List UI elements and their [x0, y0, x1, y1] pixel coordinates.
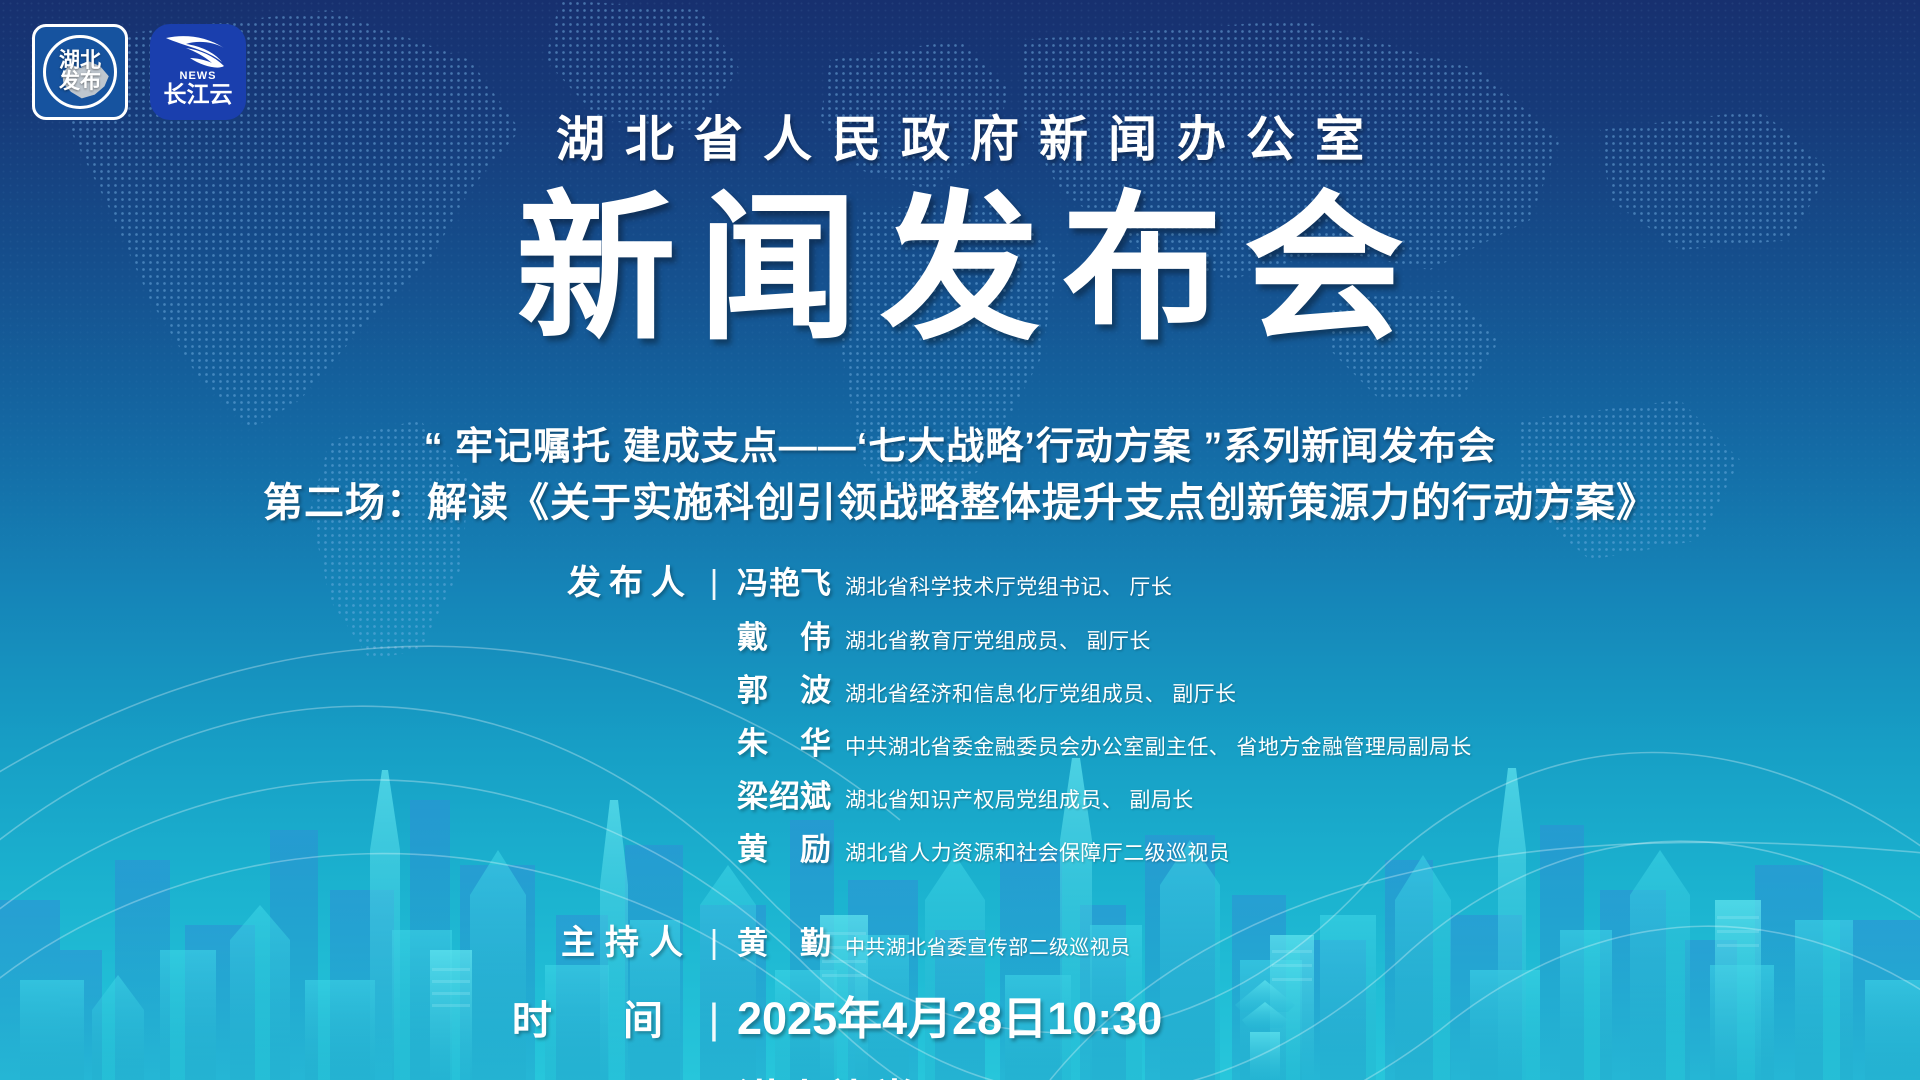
speaker-surname: 冯 [737, 558, 768, 603]
speaker-name: 朱华 [723, 718, 833, 763]
place-row: 地 点 | 洪山礼堂二号厅 [0, 1065, 1920, 1080]
page-title: 新闻发布会 [0, 185, 1920, 353]
speaker-name: 冯艳飞 [723, 558, 833, 603]
speaker-row: 朱华 中共湖北省委金融委员会办公室副主任、 省地方金融管理局副局长 [0, 718, 1920, 763]
speaker-row: 梁绍斌 湖北省知识产权局党组成员、 副局长 [0, 771, 1920, 816]
speaker-surname: 梁 [737, 771, 768, 816]
speaker-surname: 郭 [737, 665, 768, 710]
host-given: 勤 [800, 918, 831, 963]
host-surname: 黄 [737, 918, 768, 963]
host-name: 黄勤 [723, 918, 833, 963]
speaker-given: 艳飞 [769, 558, 831, 603]
bird-swoosh-icon [162, 32, 234, 72]
speaker-name: 黄励 [723, 824, 833, 869]
speaker-name: 梁绍斌 [723, 771, 833, 816]
speaker-name: 郭波 [723, 665, 833, 710]
speaker-title: 湖北省教育厅党组成员、 副厅长 [833, 625, 1151, 655]
hubei-logo-text: 湖北 发布 [59, 51, 101, 92]
host-label: 主持人 [0, 915, 705, 964]
logo-group: 湖北 发布 NEWS 长江云 [32, 24, 246, 120]
divider-icon: | [705, 923, 723, 961]
spacer-divider [705, 776, 723, 814]
news-conference-poster: 湖北 发布 NEWS 长江云 湖北省人民政府新闻办公室 新闻发布会 “ 牢记嘱托… [0, 0, 1920, 1080]
hubei-logo-line1: 湖北 [59, 51, 101, 72]
spacer-divider [705, 723, 723, 761]
spacer-divider [705, 829, 723, 867]
subtitle-line-1: “ 牢记嘱托 建成支点——‘七大战略’行动方案 ”系列新闻发布会 [0, 415, 1920, 470]
divider-icon: | [705, 563, 723, 601]
speaker-title: 中共湖北省委金融委员会办公室副主任、 省地方金融管理局副局长 [833, 731, 1472, 761]
speaker-given: 励 [800, 824, 831, 869]
hubei-logo-line2: 发布 [59, 72, 101, 93]
changjiang-cloud-logo[interactable]: NEWS 长江云 [150, 24, 246, 120]
speaker-surname: 戴 [737, 612, 768, 657]
speaker-row: 发布人 | 冯艳飞 湖北省科学技术厅党组书记、 厅长 [0, 555, 1920, 604]
place-value: 洪山礼堂二号厅 [723, 1065, 1052, 1080]
speaker-surname: 朱 [737, 718, 768, 763]
spacer-divider [705, 617, 723, 655]
host-title: 中共湖北省委宣传部二级巡视员 [833, 931, 1131, 960]
speaker-given: 华 [800, 718, 831, 763]
hubei-logo-ring: 湖北 发布 [43, 35, 117, 109]
spacer-divider [705, 670, 723, 708]
subtitle-line-2: 第二场：解读《关于实施科创引领战略整体提升支点创新策源力的行动方案》 [0, 470, 1920, 528]
speaker-title: 湖北省经济和信息化厅党组成员、 副厅长 [833, 678, 1236, 708]
divider-icon: | [705, 995, 723, 1043]
speaker-given: 波 [800, 665, 831, 710]
host-row: 主持人 | 黄勤 中共湖北省委宣传部二级巡视员 [0, 915, 1920, 964]
speaker-title: 湖北省人力资源和社会保障厅二级巡视员 [833, 837, 1230, 867]
time-label: 时 间 [0, 988, 705, 1046]
speaker-row: 郭波 湖北省经济和信息化厅党组成员、 副厅长 [0, 665, 1920, 710]
time-value: 2025年4月28日10:30 [723, 982, 1162, 1047]
speaker-given: 绍斌 [769, 771, 831, 816]
organization-title: 湖北省人民政府新闻办公室 [0, 100, 1920, 171]
speaker-name: 戴伟 [723, 612, 833, 657]
hubei-release-logo[interactable]: 湖北 发布 [32, 24, 128, 120]
time-row: 时 间 | 2025年4月28日10:30 [0, 982, 1920, 1047]
changjiang-cloud-title: 长江云 [164, 83, 233, 106]
speaker-given: 伟 [800, 612, 831, 657]
speaker-title: 湖北省科学技术厅党组书记、 厅长 [833, 571, 1172, 601]
place-label: 地 点 [0, 1071, 705, 1080]
speaker-title: 湖北省知识产权局党组成员、 副局长 [833, 784, 1194, 814]
speaker-surname: 黄 [737, 824, 768, 869]
info-block: 发布人 | 冯艳飞 湖北省科学技术厅党组书记、 厅长 戴伟 湖北省教育厅党组成员… [0, 555, 1920, 1080]
speakers-label: 发布人 [0, 555, 705, 604]
speaker-row: 黄励 湖北省人力资源和社会保障厅二级巡视员 [0, 824, 1920, 869]
speaker-row: 戴伟 湖北省教育厅党组成员、 副厅长 [0, 612, 1920, 657]
